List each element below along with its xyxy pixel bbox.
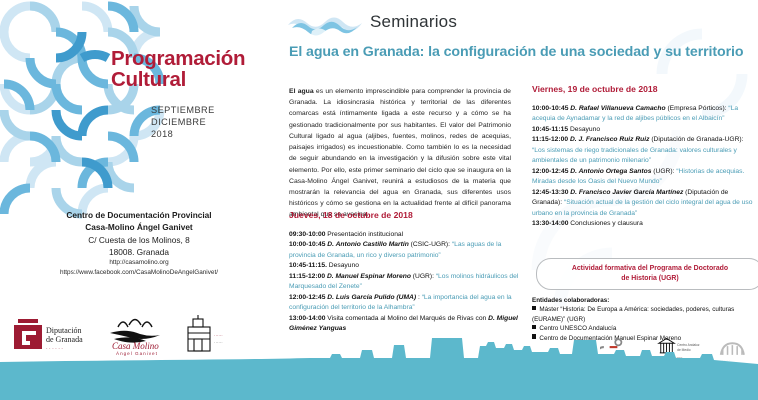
schedule-item: 12:45-13:30 D. Francisco Javier García M… — [532, 188, 756, 219]
facebook-link[interactable]: https://www.facebook.com/CasaMolinoDeAng… — [0, 268, 278, 278]
brand-block: Programación Cultural — [111, 48, 271, 91]
poster-page: Seminarios El agua en Granada: la config… — [0, 0, 758, 400]
granada-skyline-decoration — [0, 320, 758, 400]
venue-line-3: C/ Cuesta de los Molinos, 8 — [0, 234, 278, 246]
venue-line-4: 18008. Granada — [0, 246, 278, 258]
schedule-time: 11:15-12:00 — [532, 136, 568, 143]
schedule-note: Desayuno — [329, 262, 359, 269]
schedule-time: 13:30-14:00 — [532, 220, 568, 227]
schedule-time: 09:30-10:00 — [289, 231, 325, 238]
schedule-item: 10:00-10:45 D. Antonio Castillo Martín (… — [289, 240, 519, 261]
venue-block: Centro de Documentación Provincial Casa-… — [0, 209, 278, 259]
page-title: El agua en Granada: la configuración de … — [289, 44, 758, 60]
schedule-talk-title: “Situación actual de la gestión del cicl… — [532, 199, 752, 216]
schedule-org: : — [418, 294, 420, 301]
water-waves-icon — [286, 8, 364, 38]
schedule-speaker: D. Antonio Ortega Santos — [570, 168, 651, 175]
kicker-seminarios: Seminarios — [370, 12, 457, 32]
schedule-item: 11:15-12:00 D. Manuel Espinar Moreno (UG… — [289, 272, 519, 293]
venue-line-1: Centro de Documentación Provincial — [0, 209, 278, 221]
schedule-item: 11:15-12:00 D. J. Francisco Ruiz Ruiz (D… — [532, 135, 756, 166]
intro-paragraph: El agua es un elemento imprescindible pa… — [289, 86, 511, 221]
schedule-org: (Diputación de Granada-UGR): — [651, 136, 743, 143]
intro-body: es un elemento imprescindible para compr… — [289, 88, 511, 218]
schedule-speaker: D. Manuel Espinar Moreno — [327, 273, 411, 280]
brand-title-line2: Cultural — [111, 69, 271, 90]
schedule-org: (Empresa Pórticos): — [667, 105, 726, 112]
schedule-speaker: D. Luis García Pulido (UMA) — [327, 294, 416, 301]
schedule-speaker: D. Francisco Javier García Martínez — [570, 189, 683, 196]
schedule-speaker: D. J. Francisco Ruiz Ruiz — [570, 136, 650, 143]
schedule-talk-title: “Los sistemas de riego tradicionales de … — [532, 147, 737, 164]
thursday-items: 09:30-10:00 Presentación institucional10… — [289, 230, 519, 335]
schedule-note: Presentación institucional — [327, 231, 403, 238]
schedule-time: 11:15-12:00 — [289, 273, 325, 280]
schedule-item: 13:30-14:00 Conclusiones y clausura — [532, 219, 756, 229]
schedule-friday: Viernes, 19 de octubre de 2018 10:00-10:… — [532, 84, 756, 229]
schedule-item: 12:00-12:45 D. Luis García Pulido (UMA) … — [289, 293, 519, 314]
schedule-time: 10:45-11:15 — [532, 126, 568, 133]
friday-items: 10:00-10:45 D. Rafael Villanueva Camacho… — [532, 104, 756, 229]
schedule-speaker: D. Rafael Villanueva Camacho — [570, 105, 665, 112]
schedule-time: 12:00-12:45 — [289, 294, 325, 301]
schedule-time: 10:00-10:45 — [289, 241, 325, 248]
collaborators-heading: Entidades colaboradoras: — [532, 296, 758, 305]
brand-dates: SEPTIEMBRE DICIEMBRE 2018 — [151, 104, 215, 141]
schedule-org: (CSIC-UGR): — [411, 241, 450, 248]
website-link[interactable]: http://casamolino.org — [0, 258, 278, 268]
schedule-time: 10:00-10:45 — [532, 105, 568, 112]
bullet-square-icon — [532, 306, 536, 310]
status-badge: Actividad formativa del Programa de Doct… — [536, 258, 758, 290]
venue-line-2: Casa-Molino Ángel Ganivet — [0, 221, 278, 233]
intro-lead: El agua — [289, 88, 314, 95]
badge-line-2: de Historia (UGR) — [621, 275, 678, 282]
schedule-org: (UGR): — [653, 168, 674, 175]
thursday-heading: Jueves, 18 de octubre de 2018 — [289, 210, 519, 220]
schedule-time: 10:45-11:15. — [289, 262, 327, 269]
schedule-time: 12:00-12:45 — [532, 168, 568, 175]
schedule-time: 12:45-13:30 — [532, 189, 568, 196]
schedule-speaker: D. Antonio Castillo Martín — [327, 241, 408, 248]
schedule-item: 10:45-11:15. Desayuno — [289, 261, 519, 271]
schedule-thursday: Jueves, 18 de octubre de 2018 09:30-10:0… — [289, 210, 519, 335]
schedule-note: Conclusiones y clausura — [570, 220, 643, 227]
schedule-org: (UGR): — [413, 273, 434, 280]
schedule-item: 09:30-10:00 Presentación institucional — [289, 230, 519, 240]
brand-title-line1: Programación — [111, 48, 271, 69]
schedule-item: 10:45-11:15 Desayuno — [532, 125, 756, 135]
schedule-item: 10:00-10:45 D. Rafael Villanueva Camacho… — [532, 104, 756, 125]
badge-line-1: Actividad formativa del Programa de Doct… — [572, 265, 728, 272]
schedule-item: 12:00-12:45 D. Antonio Ortega Santos (UG… — [532, 167, 756, 188]
schedule-note: Desayuno — [570, 126, 600, 133]
friday-heading: Viernes, 19 de octubre de 2018 — [532, 84, 756, 94]
links-block: http://casamolino.org https://www.facebo… — [0, 258, 278, 278]
